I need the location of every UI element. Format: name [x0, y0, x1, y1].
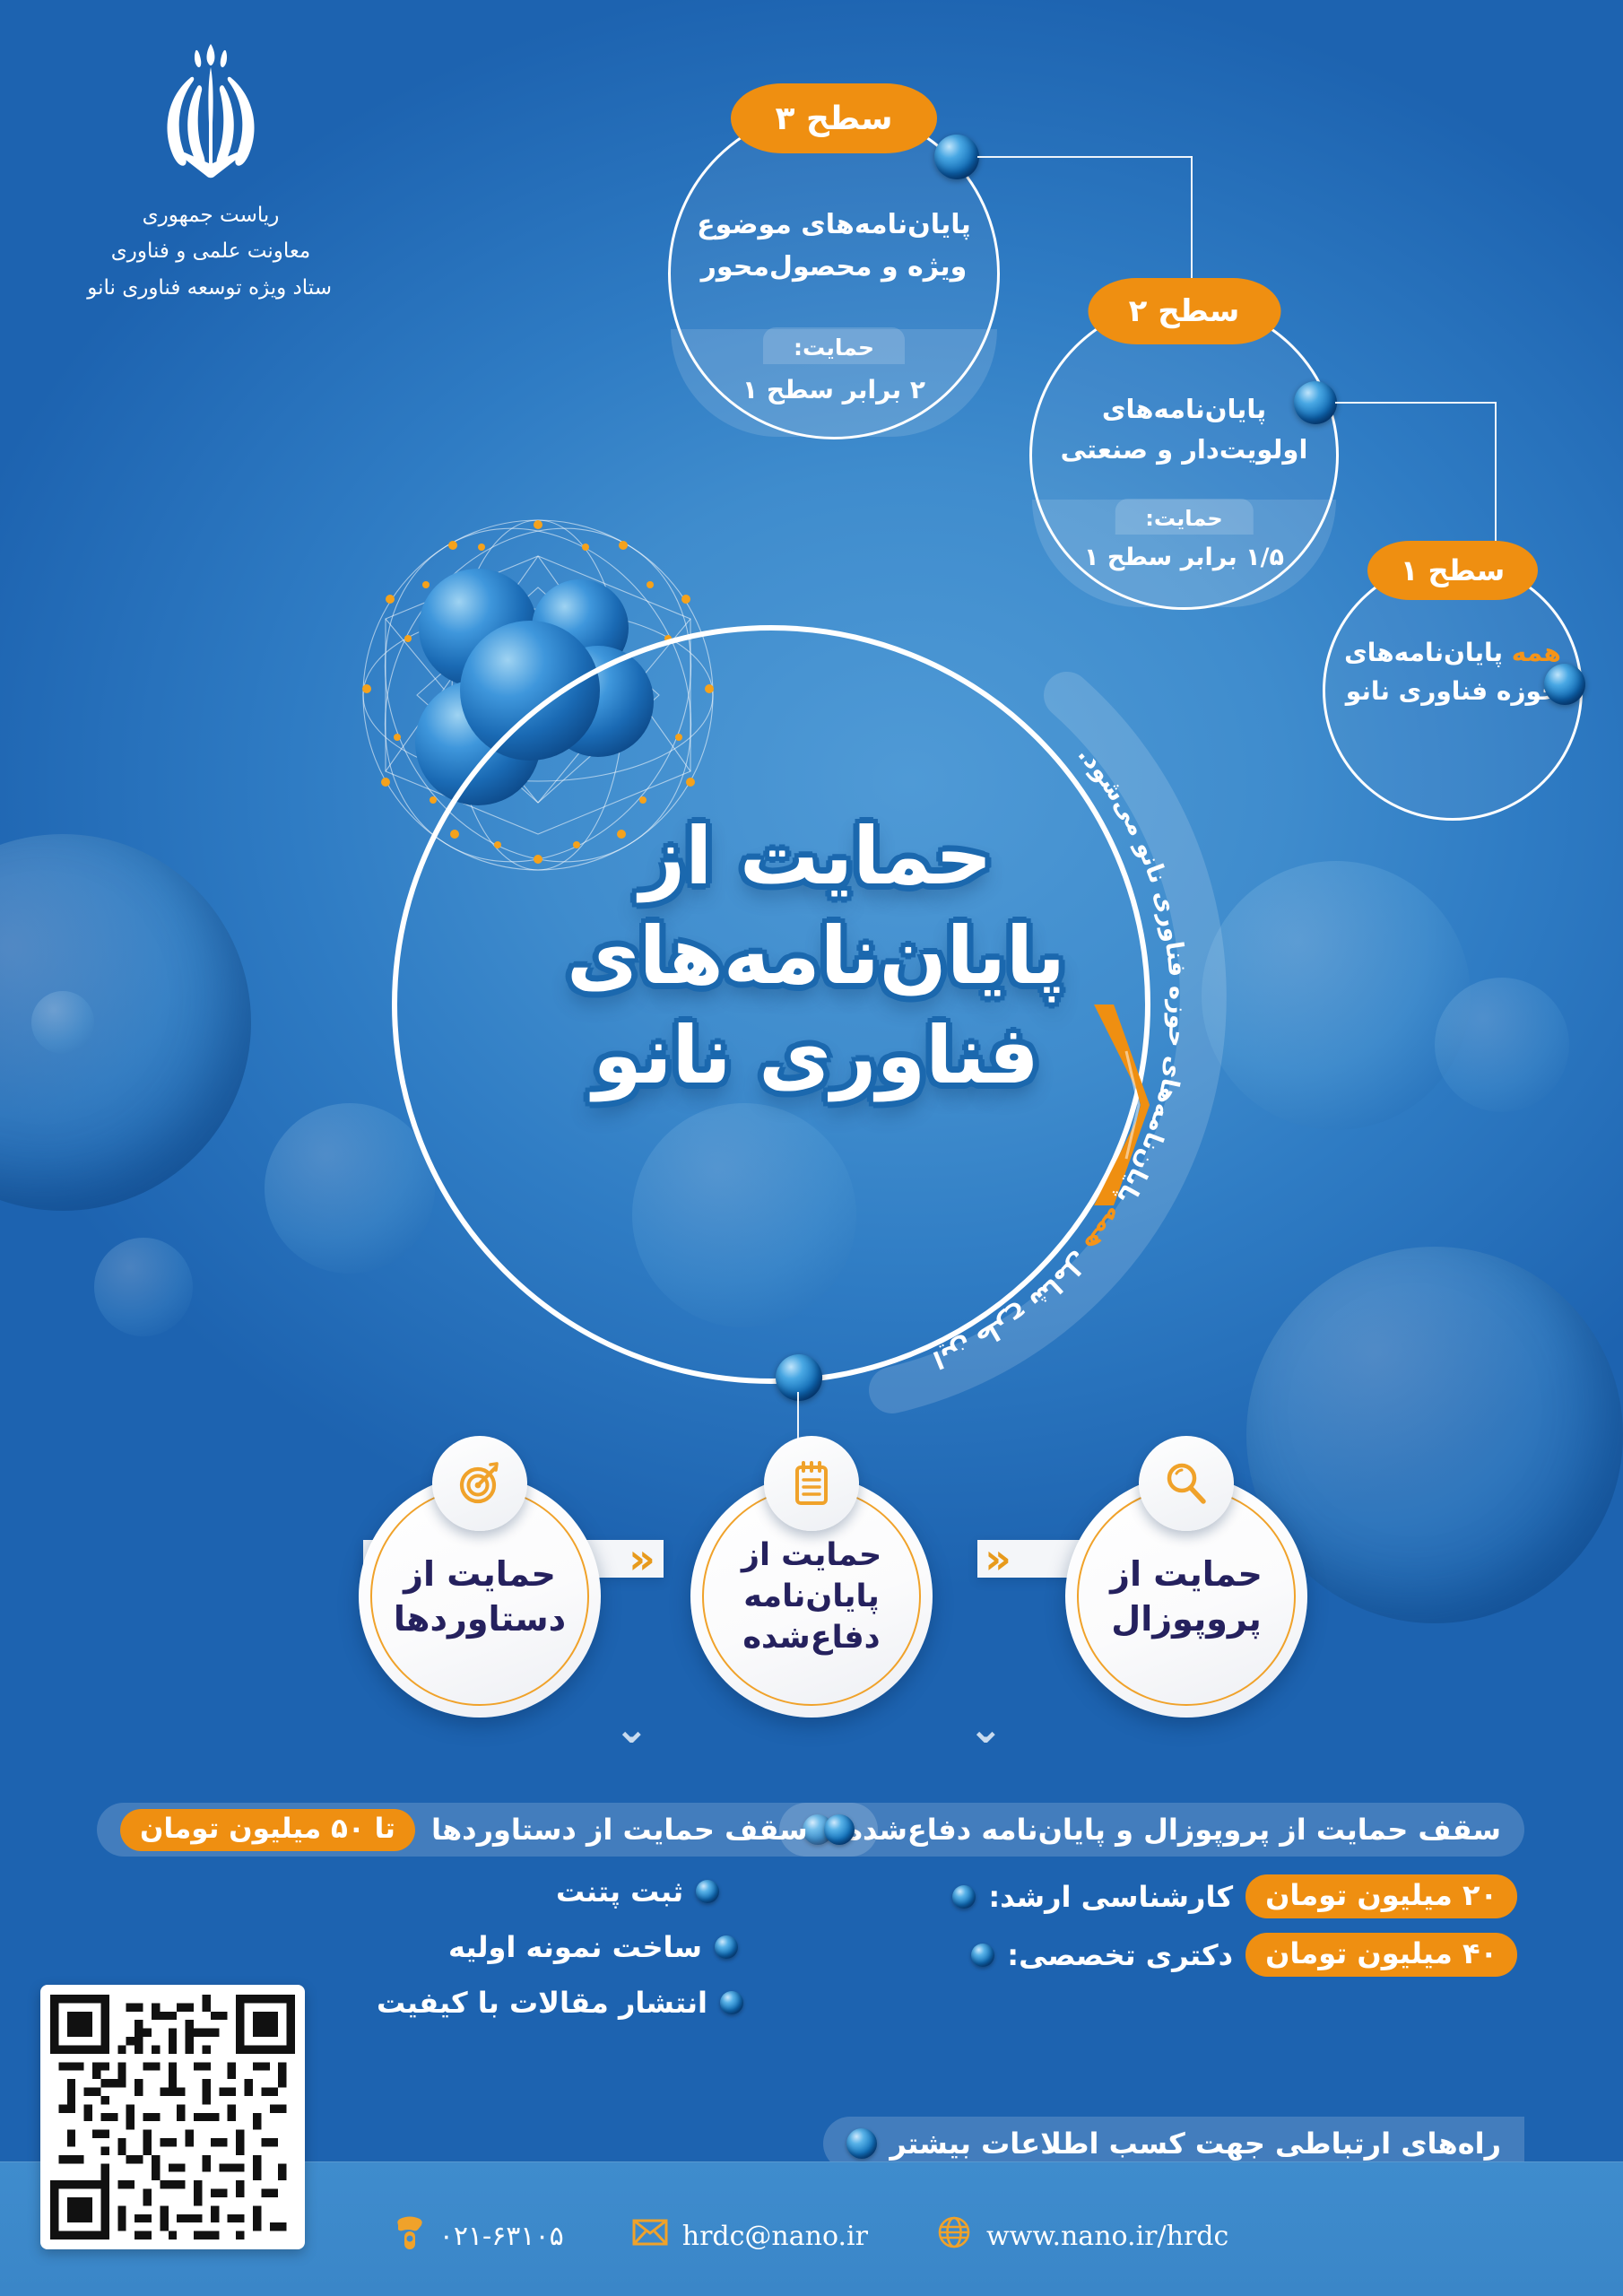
logo-line-2: معاونت علمی و فناوری: [90, 233, 332, 269]
level-3-support-amount: ۲ برابر سطح ۱: [671, 375, 997, 404]
step-chevron-right: «: [973, 1534, 1023, 1584]
bullet-bead-icon: [952, 1885, 976, 1909]
support-masters-amount: ۲۰ میلیون تومان: [1245, 1874, 1517, 1918]
level-3-connector-node: [934, 135, 979, 179]
step-label-defended-thesis: حمایت از پایان‌نامه دفاع‌شده: [729, 1535, 894, 1659]
poster-canvas: ریاست جمهوری معاونت علمی و فناوری ستاد و…: [0, 0, 1623, 2296]
bubble-decoration: [1435, 978, 1569, 1112]
contact-phone-value: ۰۲۱-۶۳۱۰۵: [439, 2221, 564, 2252]
support-phd-label: دکتری تخصصی:: [1007, 1938, 1233, 1972]
process-steps: « « حمایت از پروپوزال: [0, 1435, 1623, 1740]
bubble-decoration: [31, 991, 94, 1054]
level-3-badge: سطح ۳: [731, 83, 937, 153]
support-proposal-heading: سقف حمایت از پروپوزال و پایان‌نامه دفاع‌…: [779, 1803, 1524, 1857]
level-3-connector-line: [977, 156, 1193, 158]
step-thesis-line-3: دفاع‌شده: [742, 1617, 881, 1658]
bullet-bead-icon: [846, 2128, 877, 2159]
level-1-body-line-1: همه پایان‌نامه‌های: [1325, 633, 1580, 672]
step-achv-line-2: دستاوردها: [394, 1596, 566, 1641]
step-support-achievements[interactable]: حمایت از دستاوردها: [359, 1475, 601, 1718]
level-1-body-rest: پایان‌نامه‌های: [1344, 638, 1503, 667]
down-arrow-left: ⌄: [614, 1704, 649, 1752]
bubble-decoration: [94, 1238, 193, 1336]
contact-website[interactable]: www.nano.ir/hrdc: [936, 2214, 1228, 2257]
title-line-1: حمایت از: [502, 807, 1130, 907]
magnifier-icon: [1139, 1436, 1234, 1531]
logo-line-1: ریاست جمهوری: [90, 197, 332, 233]
support-phd-amount: ۴۰ میلیون تومان: [1245, 1933, 1517, 1977]
title-line-2: پایان‌نامه‌های: [502, 907, 1130, 1006]
page-title: حمایت از پایان‌نامه‌های فناوری نانو: [502, 807, 1130, 1106]
notepad-icon: [764, 1436, 859, 1531]
step-proposal-line-2: پروپوزال: [1110, 1596, 1263, 1641]
support-achievements-heading-text: سقف حمایت از دستاوردها: [431, 1813, 808, 1847]
arc-bottom-node: [776, 1354, 822, 1401]
step-proposal-line-1: حمایت از: [1110, 1552, 1263, 1596]
step-achv-line-1: حمایت از: [394, 1552, 566, 1596]
qr-code-icon[interactable]: [40, 1985, 305, 2249]
globe-icon: [936, 2214, 972, 2257]
achievement-item-prototype: ساخت نمونه اولیه: [448, 1930, 738, 1964]
contact-phone[interactable]: ۰۲۱-۶۳۱۰۵: [395, 2213, 564, 2258]
level-2-connector-node: [1294, 381, 1337, 424]
achievement-patent-label: ثبت پتنت: [556, 1874, 683, 1909]
achievement-prototype-label: ساخت نمونه اولیه: [448, 1930, 702, 1964]
level-1-body: همه پایان‌نامه‌های حوزه فناوری نانو: [1325, 633, 1580, 711]
level-2-support-label: حمایت:: [1115, 499, 1253, 535]
level-3-support-label: حمایت:: [763, 327, 905, 364]
step-chevron-left: «: [617, 1534, 667, 1584]
down-arrow-right: ⌄: [968, 1704, 1003, 1752]
bullet-bead-icon: [696, 1880, 719, 1903]
step-support-defended-thesis[interactable]: حمایت از پایان‌نامه دفاع‌شده: [690, 1475, 933, 1718]
level-1-connector-node: [1544, 664, 1585, 705]
level-1-circle[interactable]: سطح ۱ همه پایان‌نامه‌های حوزه فناوری نان…: [1323, 561, 1583, 821]
achievement-papers-label: انتشار مقالات با کیفیت: [377, 1986, 707, 2020]
level-2-body-line-1: پایان‌نامه‌های: [1032, 389, 1336, 430]
level-3-body: پایان‌نامه‌های موضوع ویژه و محصول‌محور: [671, 204, 997, 288]
level-2-badge: سطح ۲: [1088, 278, 1280, 344]
achievement-item-patent: ثبت پتنت: [556, 1874, 719, 1909]
step-thesis-line-1: حمایت از: [742, 1535, 881, 1576]
level-3-body-line-1: پایان‌نامه‌های موضوع: [671, 204, 997, 247]
footer-heading-text: راه‌های ارتباطی جهت کسب اطلاعات بیشتر: [890, 2126, 1501, 2161]
level-2-body-line-2: اولویت‌دار و صنعتی: [1032, 430, 1336, 470]
contact-email[interactable]: hrdc@nano.ir: [632, 2218, 868, 2254]
bullet-bead-icon: [720, 1991, 743, 2014]
level-2-connector-drop: [1495, 402, 1497, 554]
organization-logo: ریاست جمهوری معاونت علمی و فناوری ستاد و…: [90, 40, 332, 306]
step-label-achievements: حمایت از دستاوردها: [381, 1552, 578, 1641]
bullet-bead-icon: [715, 1935, 738, 1959]
iran-emblem-icon: [90, 40, 332, 197]
contact-email-value: hrdc@nano.ir: [682, 2221, 868, 2252]
logo-line-3: ستاد ویژه توسعه فناوری نانو: [90, 270, 332, 306]
level-3-body-line-2: ویژه و محصول‌محور: [671, 247, 997, 289]
step-label-proposal: حمایت از پروپوزال: [1098, 1552, 1275, 1641]
support-proposal-heading-text: سقف حمایت از پروپوزال و پایان‌نامه دفاع‌…: [846, 1813, 1501, 1847]
level-2-body: پایان‌نامه‌های اولویت‌دار و صنعتی: [1032, 389, 1336, 470]
level-2-connector-line: [1335, 402, 1497, 404]
support-achievements-heading: تا ۵۰ میلیون تومان سقف حمایت از دستاورده…: [97, 1803, 878, 1857]
level-1-badge: سطح ۱: [1367, 541, 1538, 600]
step-thesis-line-2: پایان‌نامه: [742, 1576, 881, 1617]
envelope-icon: [632, 2218, 668, 2254]
achievement-item-papers: انتشار مقالات با کیفیت: [377, 1986, 743, 2020]
support-phd-row: ۴۰ میلیون تومان دکتری تخصصی:: [971, 1933, 1517, 1977]
bullet-bead-icon: [824, 1814, 855, 1845]
step-support-proposal[interactable]: حمایت از پروپوزال: [1065, 1475, 1307, 1718]
title-line-3: فناوری نانو: [502, 1006, 1130, 1106]
support-masters-row: ۲۰ میلیون تومان کارشناسی ارشد:: [952, 1874, 1517, 1918]
support-achievements-cap: تا ۵۰ میلیون تومان: [120, 1809, 415, 1851]
bubble-decoration: [0, 834, 251, 1211]
phone-icon: [395, 2213, 425, 2258]
contact-website-value: www.nano.ir/hrdc: [986, 2221, 1228, 2252]
bubble-decoration: [1202, 861, 1471, 1130]
bullet-bead-icon: [971, 1944, 994, 1967]
support-masters-label: کارشناسی ارشد:: [988, 1880, 1233, 1914]
level-1-body-line-2: حوزه فناوری نانو: [1325, 672, 1580, 710]
target-icon: [432, 1436, 527, 1531]
level-1-highlight: همه: [1512, 638, 1561, 667]
